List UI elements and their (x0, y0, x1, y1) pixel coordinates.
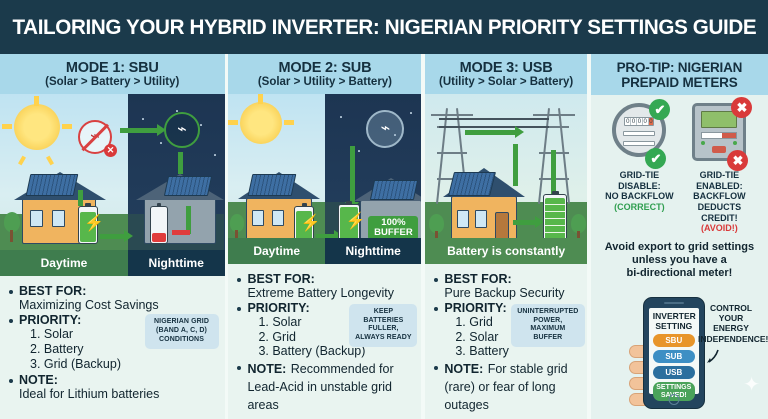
best-for-item: BEST FOR: Pure Backup Security (433, 272, 579, 300)
meter-bar (623, 131, 655, 136)
caption-daytime: Daytime (0, 250, 128, 276)
column-1-details: BEST FOR: Maximizing Cost Savings PRIORI… (0, 276, 225, 419)
caption-battery-constantly: Battery is constantly (425, 238, 586, 264)
priority-3: 3. Grid (Backup) (30, 357, 218, 372)
control-line-2: YOUR (698, 313, 764, 323)
sun-ray (284, 120, 294, 125)
caption-line-2: ENABLED: (682, 181, 756, 192)
arrow-head (124, 230, 133, 242)
best-for-item: BEST FOR: Extreme Battery Longevity (236, 272, 414, 300)
column-mode-1: MODE 1: SBU (Solar > Battery > Utility) (0, 54, 225, 419)
best-for-label: BEST FOR: (19, 284, 218, 298)
column-2-captions: Daytime Nighttime (228, 238, 421, 264)
arrow-to-grid (78, 190, 83, 206)
badge-line-2: FULLER, (354, 325, 412, 334)
mode-button-usb[interactable]: USB (653, 366, 695, 379)
column-2-illustration: ⚡ ⌁ ⚡ 100% BUFFER (228, 94, 421, 263)
best-for-label: BEST FOR: (247, 272, 414, 286)
caption-nighttime: Nighttime (128, 250, 225, 276)
note-item: NOTE: For stable grid (rare) or fear of … (433, 360, 579, 414)
column-2-title: MODE 2: SUB (230, 60, 419, 76)
badge-line-3: MAXIMUM BUFFER (516, 325, 580, 343)
column-1-subtitle: (Solar > Battery > Utility) (2, 76, 223, 89)
meter-lcd (701, 111, 737, 128)
phone-illustration: INVERTER SETTING SBU SUB USB SETTINGS SA… (591, 291, 768, 419)
caption-line-3: NO BACKFLOW (602, 191, 676, 202)
column-protip: PRO-TIP: NIGERIAN PREPAID METERS 00000 (591, 54, 768, 419)
badge-line-1: KEEP BATTERIES (354, 308, 412, 326)
advice-line-2: unless you have a (595, 254, 764, 267)
protip-header: PRO-TIP: NIGERIAN PREPAID METERS (591, 54, 768, 95)
power-wire (439, 118, 549, 120)
solar-panel-night (164, 176, 212, 196)
meter-bar (623, 141, 655, 146)
check-icon-bottom: ✔ (645, 148, 666, 169)
meter-comparison: 00000 ✔ ✔ GRID-TIE DISABLE: NO BACKFLO (595, 103, 764, 234)
note-label: NOTE: (247, 362, 286, 376)
solar-panel-night (370, 180, 418, 200)
note-item: NOTE: Ideal for Lithium batteries (8, 373, 218, 401)
analog-meter-icon: 00000 ✔ ✔ (610, 103, 668, 165)
page-header: TAILORING YOUR HYBRID INVERTER: NIGERIAN… (0, 0, 768, 54)
home-button[interactable] (668, 394, 679, 405)
infographic-page: TAILORING YOUR HYBRID INVERTER: NIGERIAN… (0, 0, 768, 419)
arrow-battery-discharge (172, 230, 190, 235)
column-3-subtitle: (Utility > Solar > Battery) (427, 76, 584, 89)
meter-keypad (701, 132, 737, 139)
arrow-day-to-night (100, 234, 126, 239)
solar-panel-day (248, 174, 297, 196)
phone-speaker (664, 302, 684, 304)
best-for-value: Maximizing Cost Savings (19, 298, 218, 312)
best-for-value: Pure Backup Security (444, 286, 579, 300)
star (214, 154, 216, 156)
best-for-item: BEST FOR: Maximizing Cost Savings (8, 284, 218, 312)
solar-panel-day (26, 174, 79, 196)
star (410, 112, 412, 114)
arrow-head (157, 124, 166, 136)
lightning-bolt-icon: ⚡ (345, 214, 365, 230)
advice-line-3: bi-directional meter! (595, 267, 764, 280)
column-2-badge: KEEP BATTERIES FULLER, ALWAYS READY (349, 304, 417, 347)
battery-fill (545, 198, 565, 242)
tower-arm (533, 114, 575, 115)
sun-ray (62, 124, 72, 129)
meter-avoid: ✖ ✖ GRID-TIE ENABLED: BACKFLOW DEDUCTS C… (682, 103, 756, 234)
window (272, 210, 284, 226)
arrow-to-battery (513, 220, 537, 225)
window (30, 210, 43, 227)
column-2-details: BEST FOR: Extreme Battery Longevity PRIO… (228, 264, 421, 419)
star (358, 150, 360, 152)
control-line-3: ENERGY (698, 323, 764, 333)
column-1-badge: NIGERIAN GRID (BAND A, C, D) CONDITIONS (145, 314, 219, 348)
badge-line-3: ALWAYS READY (354, 334, 412, 343)
app-title-line-2: SETTING (653, 322, 695, 332)
tower-cross (437, 152, 467, 153)
window (252, 210, 264, 226)
protip-advice: Avoid export to grid settings unless you… (595, 241, 764, 281)
star (160, 142, 162, 144)
meter-correct: 00000 ✔ ✔ GRID-TIE DISABLE: NO BACKFLO (602, 103, 676, 234)
battery-cap (85, 203, 90, 206)
note-label: NOTE: (19, 373, 218, 387)
arrow-grid-flow (465, 130, 517, 135)
star (340, 116, 342, 118)
page-title: TAILORING YOUR HYBRID INVERTER: NIGERIAN… (12, 15, 756, 40)
x-icon-top: ✖ (731, 97, 752, 118)
column-1-captions: Daytime Nighttime (0, 250, 225, 276)
sun-ray (258, 94, 263, 104)
star (142, 118, 144, 120)
caption-daytime: Daytime (228, 238, 325, 264)
meter-avoid-caption: GRID-TIE ENABLED: BACKFLOW DEDUCTS CREDI… (682, 170, 756, 234)
verdict-avoid: (AVOID!) (682, 223, 756, 234)
control-callout: CONTROL YOUR ENERGY INDEPENDENCE! (698, 303, 764, 344)
battery-night-icon (150, 206, 168, 244)
column-3-title: MODE 3: USB (427, 60, 584, 76)
columns-container: MODE 1: SBU (Solar > Battery > Utility) (0, 54, 768, 419)
battery-cap (552, 191, 559, 194)
verdict-correct: (CORRECT) (602, 202, 676, 213)
column-1-illustration: ⚡ ⌁ ✕ ⌁ (0, 94, 225, 276)
sparkle-icon: ✦ (743, 372, 760, 397)
arrow-house-to-grid (513, 144, 518, 186)
column-mode-2: MODE 2: SUB (Solar > Utility > Battery) (228, 54, 421, 419)
protip-title-line-2: PREPAID METERS (593, 75, 766, 90)
caption-line-4: DEDUCTS CREDIT! (682, 202, 756, 223)
battery-cap (346, 201, 352, 204)
arrow-to-night-grid (120, 128, 160, 133)
meter-led (701, 141, 705, 145)
battery-cap (302, 203, 307, 206)
caption-nighttime: Nighttime (325, 238, 421, 264)
window (475, 210, 487, 228)
column-3-badge: UNINTERRUPTED POWER, MAXIMUM BUFFER (511, 304, 585, 347)
badge-line-1: UNINTERRUPTED (516, 308, 580, 317)
tower-arm (431, 114, 473, 115)
check-icon-top: ✔ (649, 99, 670, 120)
column-2-header: MODE 2: SUB (Solar > Utility > Battery) (228, 54, 421, 94)
sun-ray (2, 124, 12, 129)
digit: 0 (649, 118, 654, 125)
meter-digits: 00000 (624, 117, 654, 126)
control-line-1: CONTROL (698, 303, 764, 313)
badge-line-2: (BAND A, C, D) (150, 327, 214, 336)
tower-leg (558, 109, 570, 205)
badge-line-2: POWER, (516, 317, 580, 326)
sun-ray (228, 120, 238, 125)
caption-line-1: GRID-TIE (602, 170, 676, 181)
column-3-details: BEST FOR: Pure Backup Security PRIORITY:… (425, 264, 586, 419)
meter-plug (712, 146, 726, 153)
column-2-subtitle: (Solar > Utility > Battery) (230, 76, 419, 89)
digital-meter-icon: ✖ ✖ (690, 103, 748, 165)
badge-line-1: NIGERIAN GRID (150, 318, 214, 327)
power-wire (439, 126, 549, 128)
meter-red-key (722, 133, 736, 138)
arrow-head (515, 126, 524, 138)
best-for-value: Extreme Battery Longevity (247, 286, 414, 300)
tower-leg (538, 109, 550, 205)
column-1-title: MODE 1: SBU (2, 60, 223, 76)
advice-line-1: Avoid export to grid settings (595, 241, 764, 254)
x-icon-bottom: ✖ (727, 150, 748, 171)
column-mode-3: MODE 3: USB (Utility > Solar > Battery) (425, 54, 586, 419)
star (200, 124, 202, 126)
note-value: Ideal for Lithium batteries (19, 387, 218, 401)
column-3-header: MODE 3: USB (Utility > Solar > Battery) (425, 54, 586, 94)
best-for-label: BEST FOR: (444, 272, 579, 286)
lightning-bolt-icon: ⚡ (300, 216, 320, 232)
phone-device[interactable]: INVERTER SETTING SBU SUB USB SETTINGS SA… (643, 297, 705, 409)
protip-title-line-1: PRO-TIP: NIGERIAN (593, 60, 766, 75)
sun-ray (34, 96, 39, 106)
mode-button-sub[interactable]: SUB (653, 350, 695, 363)
arrow-night-up (178, 152, 183, 174)
column-1-header: MODE 1: SBU (Solar > Battery > Utility) (0, 54, 225, 94)
meter-led (733, 141, 737, 145)
pylon-glyph: ⌁ (381, 121, 391, 137)
caption-line-2: DISABLE: (602, 181, 676, 192)
pylon-glyph: ⌁ (177, 122, 187, 138)
tree (4, 212, 20, 232)
protip-body: 00000 ✔ ✔ GRID-TIE DISABLE: NO BACKFLO (591, 95, 768, 291)
column-3-caption: Battery is constantly (425, 238, 586, 264)
phone-screen[interactable]: INVERTER SETTING SBU SUB USB SETTINGS SA… (649, 308, 699, 394)
caption-line-3: BACKFLOW (682, 191, 756, 202)
badge-line-3: CONDITIONS (150, 336, 214, 345)
meter-correct-caption: GRID-TIE DISABLE: NO BACKFLOW (CORRECT) (602, 170, 676, 212)
curved-arrow-icon (704, 349, 720, 365)
solar-panel (448, 172, 496, 196)
caption-line-1: GRID-TIE (682, 170, 756, 181)
tree-trunk (10, 230, 13, 242)
battery-fill-low (152, 233, 166, 242)
control-line-4: INDEPENDENCE! (698, 334, 764, 344)
arrow-grid-to-battery (551, 150, 556, 196)
window (52, 210, 65, 227)
window (457, 210, 469, 228)
battery-cap (157, 203, 162, 206)
lightning-bolt-icon: ⚡ (84, 216, 104, 232)
note-label: NOTE: (444, 362, 483, 376)
column-3-illustration: Battery is constantly (425, 94, 586, 263)
saved-line-1: SETTINGS (653, 384, 695, 392)
note-item: NOTE: Recommended for Lead-Acid in unsta… (236, 360, 414, 414)
mode-button-sbu[interactable]: SBU (653, 334, 695, 347)
